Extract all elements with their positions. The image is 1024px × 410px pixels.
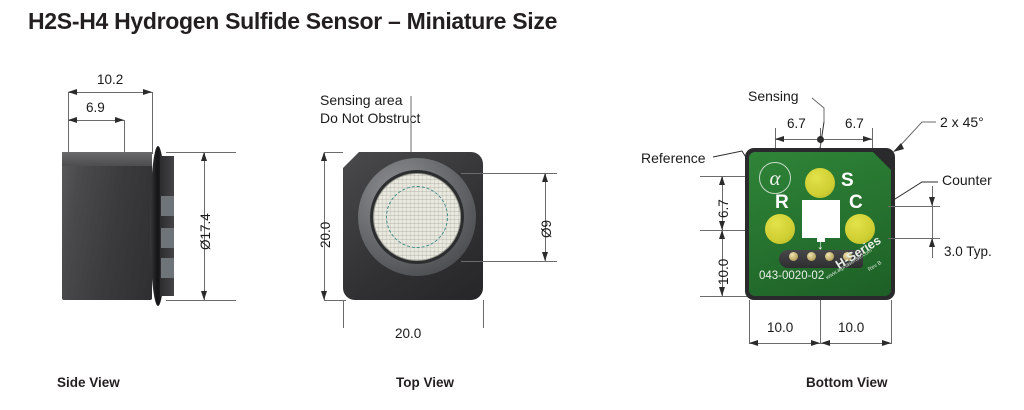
- bottom-callout-counter: Counter: [942, 172, 992, 188]
- bottom-ext-line-bot-left: [749, 300, 750, 344]
- bottom-dim-width-right: 10.0: [838, 320, 864, 335]
- bottom-ext-line-bot-right: [891, 300, 892, 344]
- bottom-dim-width-left: 10.0: [767, 320, 793, 335]
- pad-sensing: [805, 168, 835, 198]
- pad-label-reference: R: [775, 192, 789, 214]
- bottom-arrow-bot-centerright: [811, 340, 820, 346]
- connector-pin-2: [807, 252, 816, 261]
- bottom-dim-pad-pitch: 3.0 Typ.: [944, 244, 992, 259]
- bottom-dim-pad-bottom: 10.0: [716, 259, 731, 285]
- bottom-arrow-bot-centerleft: [821, 340, 830, 346]
- bottom-arrow-top-left: [775, 136, 784, 142]
- bottom-callout-reference: Reference: [641, 150, 706, 166]
- bottom-dim-line-bot: [749, 343, 891, 344]
- pcb-chamfer-corner: [873, 152, 891, 170]
- bottom-callout-chamfer: 2 x 45°: [940, 114, 984, 130]
- bottom-arrow-top-right: [863, 136, 872, 142]
- bottom-ext-line-left-c: [700, 296, 752, 297]
- bottom-ext-line-right-top: [872, 128, 873, 150]
- pad-label-sensing: S: [841, 170, 854, 192]
- datasheet-drawing-page: H2S-H4 Hydrogen Sulfide Sensor – Miniatu…: [0, 0, 1024, 410]
- pad-reference: [765, 214, 795, 244]
- bottom-arrow-bot-right: [882, 340, 891, 346]
- bottom-arrow-right-up: [929, 238, 935, 247]
- bottom-arrow-right-down: [929, 197, 935, 206]
- connector-pin-1: [789, 252, 798, 261]
- bottom-view-caption: Bottom View: [806, 375, 888, 390]
- bottom-arrow-left-a-up: [719, 176, 725, 185]
- alphasense-logo-icon: α: [759, 162, 791, 194]
- bottom-dim-pad-top: 6.7: [716, 199, 731, 218]
- bottom-arrow-left-b-down: [719, 287, 725, 296]
- pcb-part-number: 043-0020-02: [759, 270, 824, 282]
- bottom-center-dot: [817, 136, 824, 143]
- pad-label-counter: C: [849, 192, 863, 214]
- pcb-revision-text: Rev B: [867, 260, 883, 273]
- bottom-arrow-left-b-up: [719, 230, 725, 239]
- bottom-ext-line-bot-center: [820, 300, 821, 344]
- bottom-dim-sensing-left: 6.7: [787, 116, 806, 131]
- bottom-arrow-bot-left: [749, 340, 758, 346]
- bottom-arrow-left-a-down: [719, 221, 725, 230]
- bottom-view-pcb: α S R C ↓ 043-0020-02 www.alphasense.com…: [749, 152, 891, 296]
- bottom-dim-sensing-right: 6.7: [845, 116, 864, 131]
